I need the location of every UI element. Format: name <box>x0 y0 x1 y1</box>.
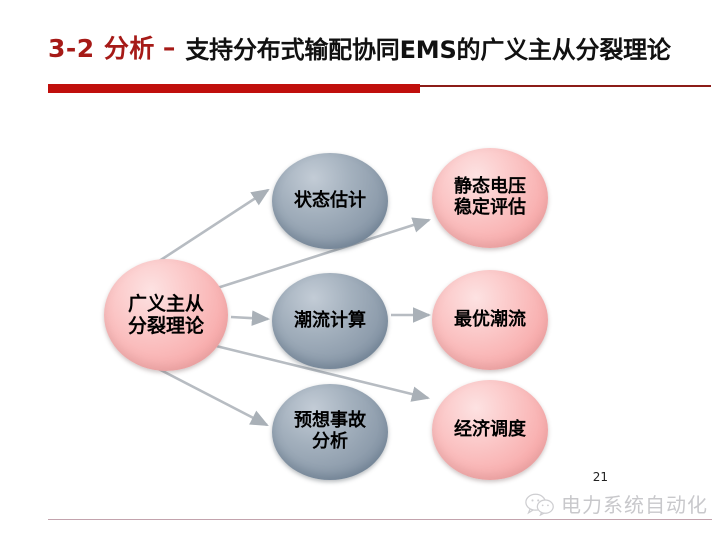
title-accent-text: 3-2 分析 <box>48 29 155 65</box>
title-underline-thick <box>48 84 420 93</box>
slide-canvas: 3-2 分析 – 支持分布式输配协同EMS的广义主从分裂理论 <box>0 0 720 540</box>
node-state-estimation-label: 状态估计 <box>294 191 366 212</box>
node-root[interactable]: 广义主从 分裂理论 <box>104 259 228 371</box>
node-contingency-label-line2: 分析 <box>294 432 366 453</box>
node-contingency-label-line1: 预想事故 <box>294 411 366 432</box>
page-number: 21 <box>593 470 608 484</box>
watermark-text: 电力系统自动化 <box>561 489 708 518</box>
node-voltage-label-line2: 稳定评估 <box>454 198 526 219</box>
edge-root-to-state <box>150 190 268 267</box>
flow-diagram: 广义主从 分裂理论 状态估计 潮流计算 预想事故 分析 静态电压 稳定评估 最优… <box>0 118 720 488</box>
title-main-text: 支持分布式输配协同EMS的广义主从分裂理论 <box>185 30 670 65</box>
node-static-voltage-stability-label: 静态电压 稳定评估 <box>454 177 526 219</box>
node-optimal-power-flow-label: 最优潮流 <box>454 310 526 331</box>
node-power-flow-label: 潮流计算 <box>294 311 366 332</box>
node-contingency-analysis[interactable]: 预想事故 分析 <box>272 384 388 480</box>
edge-root-to-contingency <box>149 364 267 425</box>
node-static-voltage-stability[interactable]: 静态电压 稳定评估 <box>432 148 548 248</box>
node-economic-dispatch[interactable]: 经济调度 <box>432 380 548 480</box>
node-economic-dispatch-label: 经济调度 <box>454 420 526 441</box>
node-optimal-power-flow[interactable]: 最优潮流 <box>432 270 548 370</box>
node-root-label: 广义主从 分裂理论 <box>128 293 204 337</box>
edge-root-to-powerflow <box>231 317 268 319</box>
node-contingency-analysis-label: 预想事故 分析 <box>294 411 366 453</box>
node-power-flow[interactable]: 潮流计算 <box>272 273 388 369</box>
node-root-label-line2: 分裂理论 <box>128 315 204 337</box>
wechat-icon <box>525 492 555 516</box>
footer-divider <box>48 519 712 520</box>
title-dash: – <box>155 33 186 62</box>
page-title: 3-2 分析 – 支持分布式输配协同EMS的广义主从分裂理论 <box>48 24 708 70</box>
node-root-label-line1: 广义主从 <box>128 293 204 315</box>
node-state-estimation[interactable]: 状态估计 <box>272 153 388 249</box>
node-voltage-label-line1: 静态电压 <box>454 177 526 198</box>
watermark: 电力系统自动化 <box>525 489 708 518</box>
